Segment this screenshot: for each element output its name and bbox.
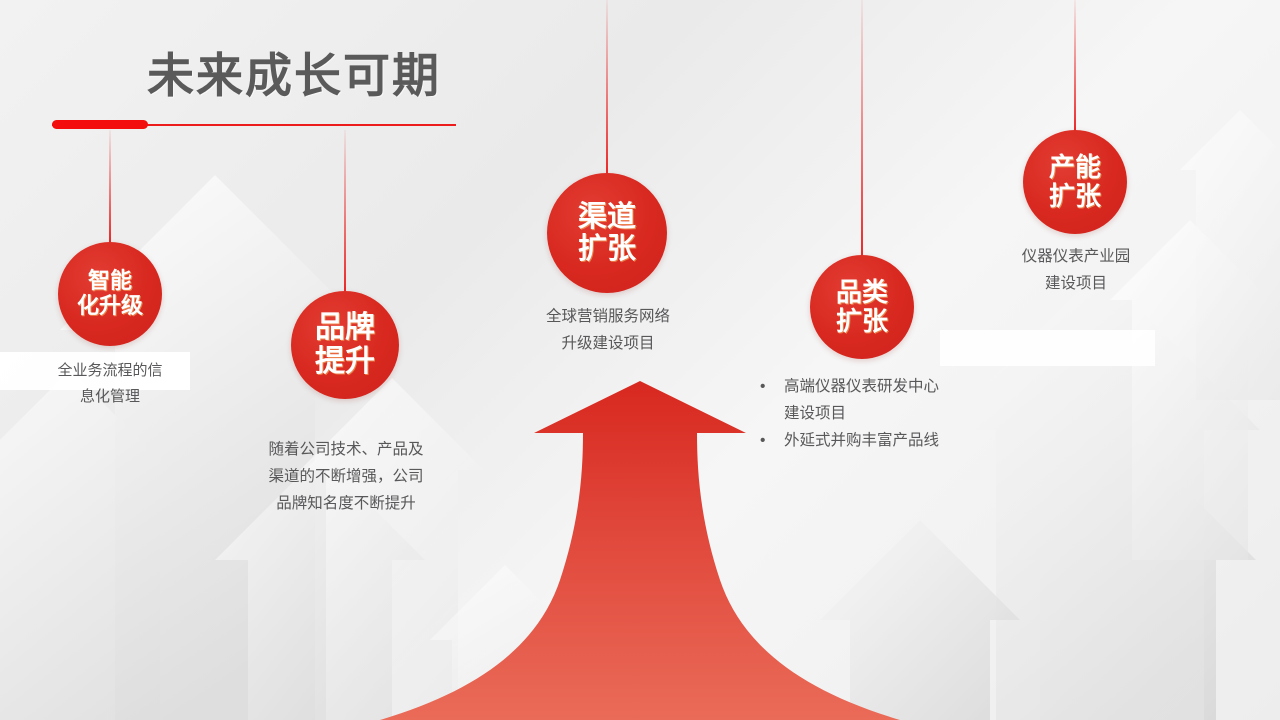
bubble-line-1: 产能 (1049, 153, 1101, 182)
bubble-line-2: 扩张 (1049, 182, 1101, 211)
drop-line-channel-expansion (606, 0, 608, 175)
bubble-intelligent-upgrade[interactable]: 智能 化升级 (58, 242, 162, 346)
bullet-text: 高端仪器仪表研发中心 建设项目 (784, 373, 1020, 427)
bubble-category-expansion[interactable]: 品类 扩张 (810, 255, 914, 359)
caption-intelligent-upgrade: 全业务流程的信 息化管理 (10, 358, 210, 411)
caption-capacity-expansion: 仪器仪表产业园 建设项目 (965, 243, 1187, 297)
bubble-line-2: 提升 (315, 345, 375, 379)
drop-line-capacity-expansion (1074, 0, 1076, 131)
page-title: 未来成长可期 (147, 52, 512, 99)
bubble-line-1: 智能 (88, 269, 132, 294)
bubble-line-1: 品类 (836, 278, 888, 307)
bubble-line-1: 渠道 (578, 201, 636, 233)
bullet-icon: • (760, 373, 784, 400)
caption-category-expansion: • 高端仪器仪表研发中心 建设项目 • 外延式并购丰富产品线 (760, 373, 1020, 454)
caption-channel-expansion: 全球营销服务网络 升级建设项目 (497, 303, 719, 357)
bubble-line-2: 化升级 (77, 294, 143, 319)
drop-line-brand-promotion (344, 130, 346, 291)
drop-line-intelligent-upgrade (109, 130, 111, 242)
bubble-brand-promotion[interactable]: 品牌 提升 (291, 291, 399, 399)
drop-line-category-expansion (861, 0, 863, 256)
bullet-icon: • (760, 427, 784, 454)
title-rule-accent-bar (52, 120, 148, 129)
bullet-text: 外延式并购丰富产品线 (784, 427, 1020, 454)
bubble-capacity-expansion[interactable]: 产能 扩张 (1023, 130, 1127, 234)
list-item: • 外延式并购丰富产品线 (760, 427, 1020, 454)
title-block: 未来成长可期 (52, 52, 512, 129)
slide-canvas: 未来成长可期 智能 化升级 全业务流程的信 息化管理 品牌 提升 随着公司技术、… (0, 0, 1280, 720)
bubble-line-2: 扩张 (836, 307, 888, 336)
caption-brand-promotion: 随着公司技术、产品及 渠道的不断增强，公司 品牌知名度不断提升 (235, 436, 457, 517)
list-item: • 高端仪器仪表研发中心 建设项目 (760, 373, 1020, 427)
title-underline-rule (52, 120, 456, 129)
bubble-line-2: 扩张 (578, 233, 636, 265)
bubble-line-1: 品牌 (315, 311, 375, 345)
bubble-channel-expansion[interactable]: 渠道 扩张 (547, 173, 667, 293)
